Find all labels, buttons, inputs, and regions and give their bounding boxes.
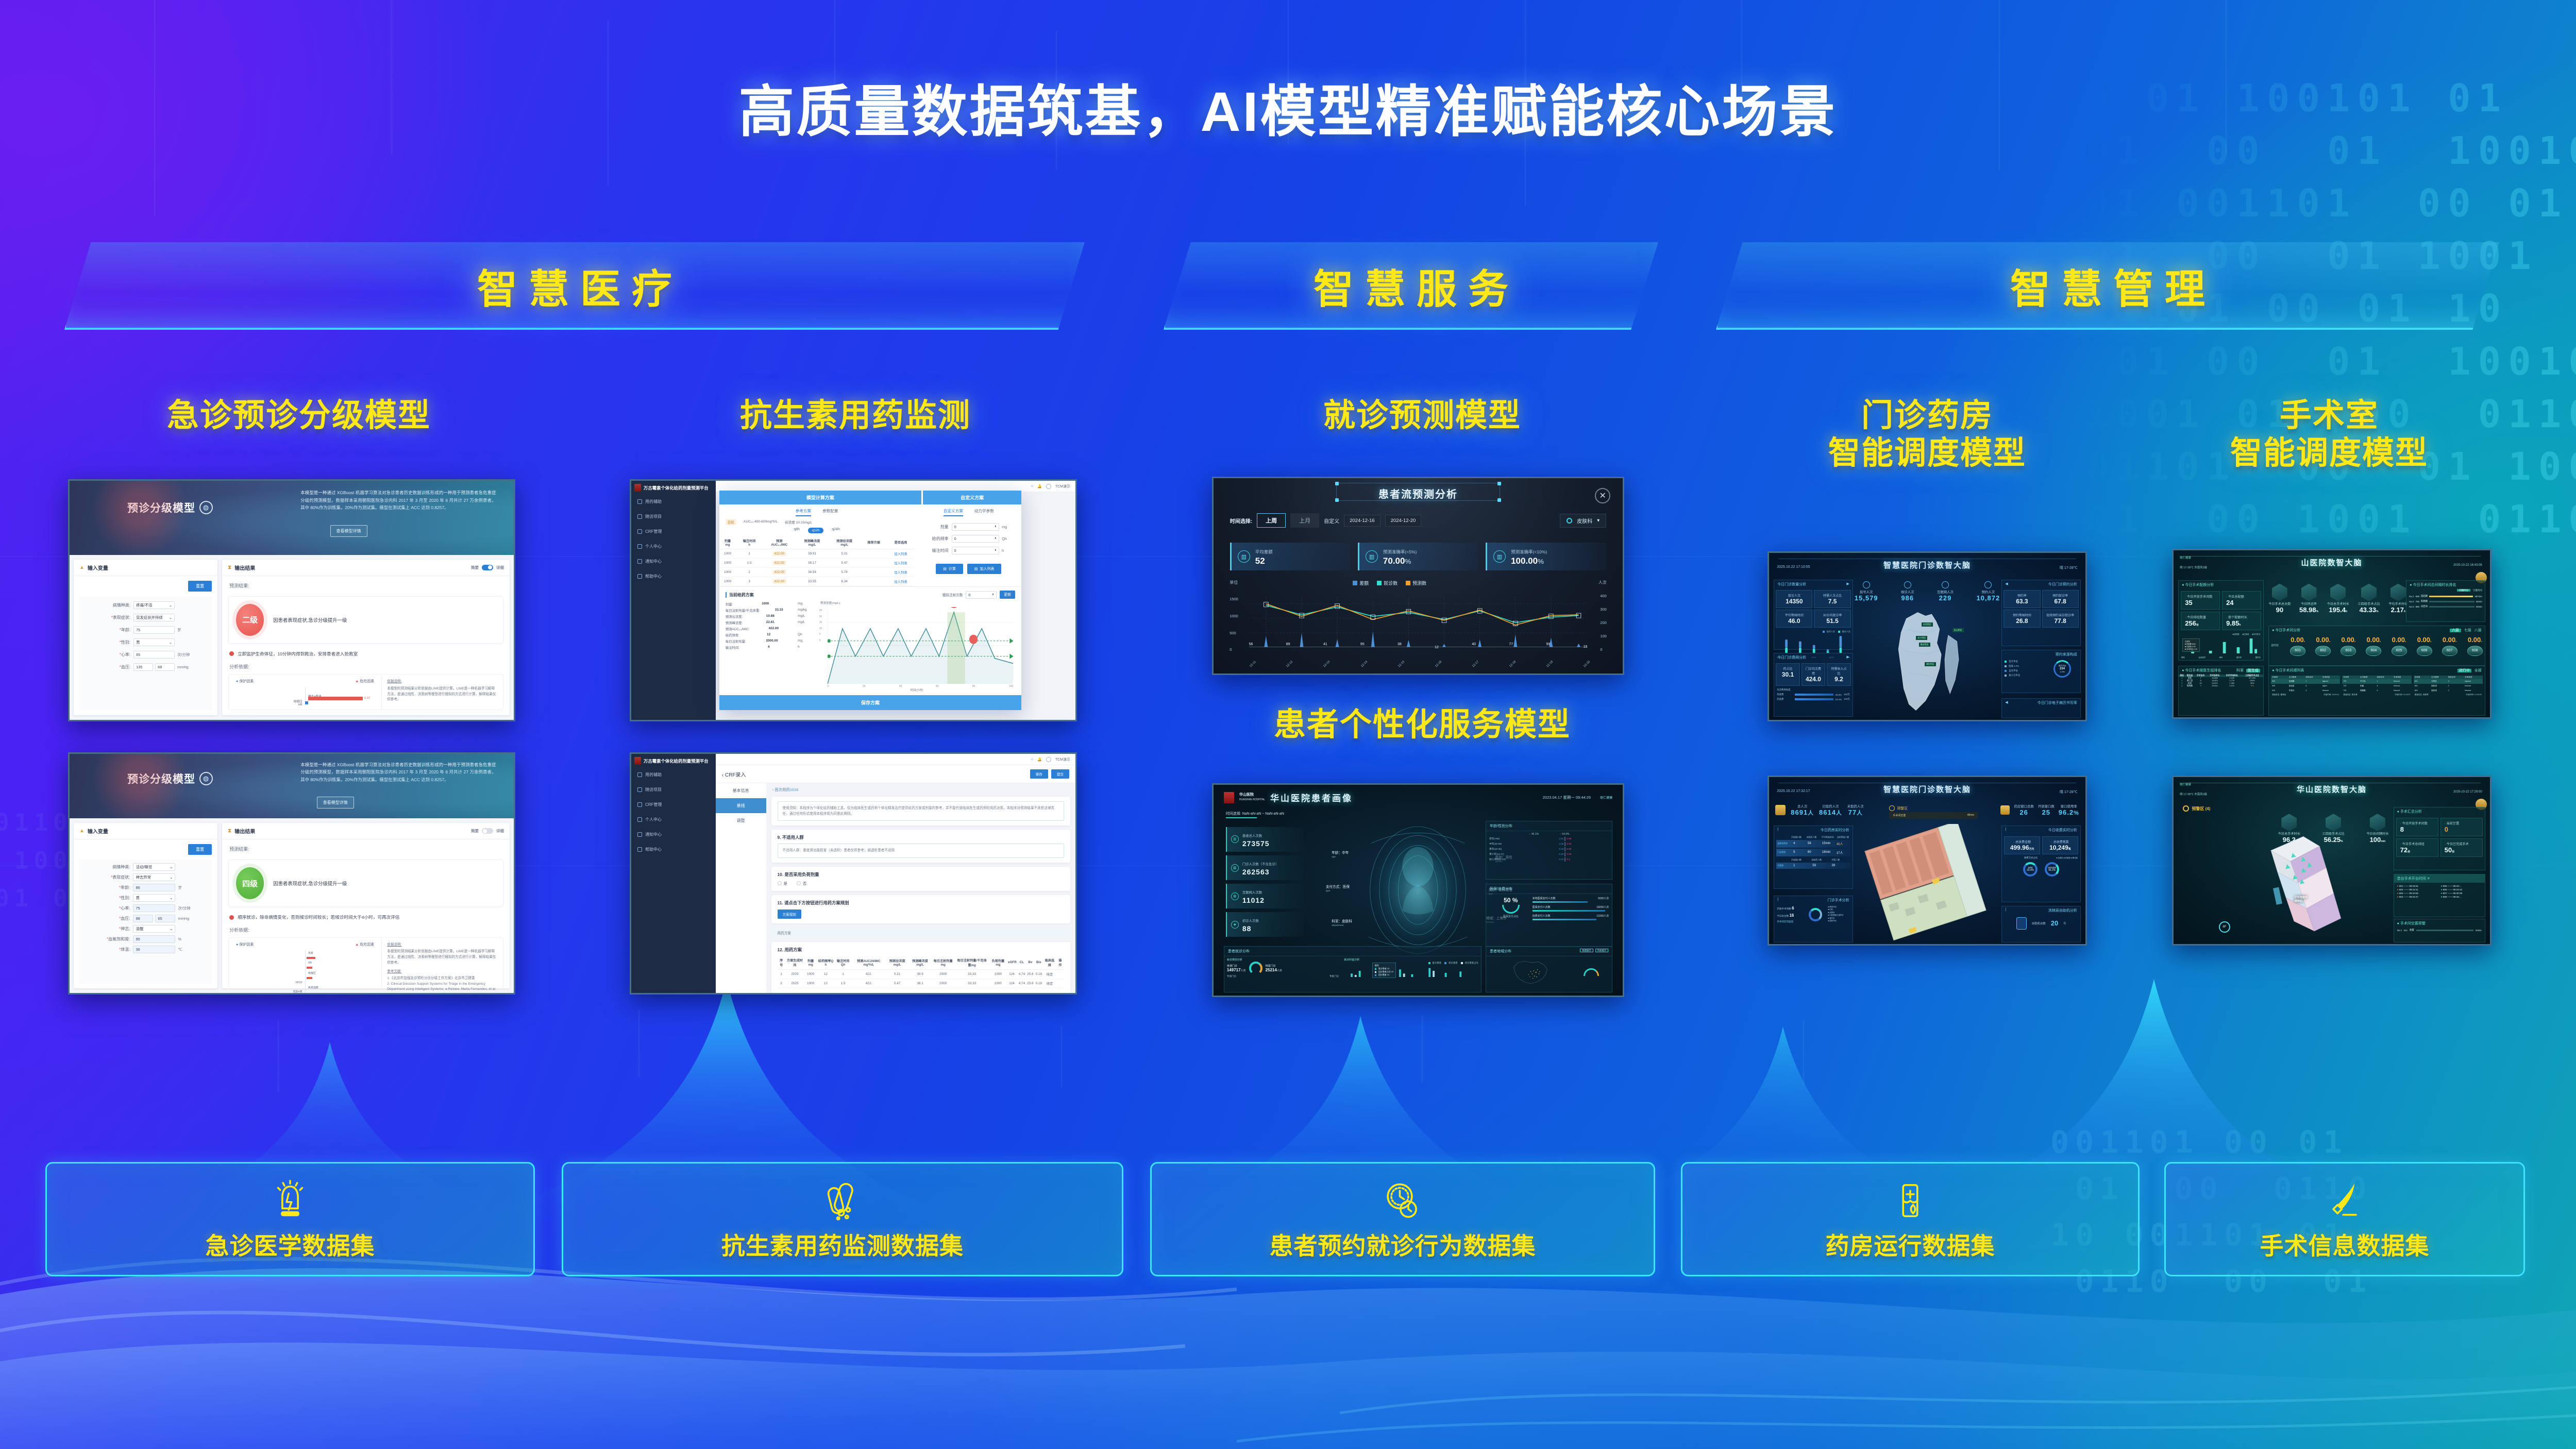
- first-row: ● 808 —— 08:45:...: [2441, 896, 2482, 898]
- form-row: 病情种类:活动/睡觉⌄: [83, 863, 208, 871]
- tab-custom-plan[interactable]: 自定义方案: [923, 491, 1021, 504]
- crf-notice-card: 使用须知：本程序为个体化给药辅助工具，仅为临床医生或药师个体化精准治疗提供给药方…: [771, 797, 1070, 825]
- section-label: ▫ 首次用药1016: [766, 783, 1075, 793]
- lime-chart: ● 保护因素 ▲ 危险因素 神志=昏迷 0.37 收缩压 HR: [229, 675, 381, 710]
- panel-header: ⧗ 输出结果 简要 详细: [222, 560, 510, 576]
- custom-tabs: 自定义方案 动力学参数: [921, 504, 1016, 519]
- radio-yes[interactable]: 是: [778, 881, 787, 886]
- dashboard-title: 智慧医院门诊数智大脑: [1769, 784, 2085, 795]
- chevron-left-icon[interactable]: ◀: [2005, 582, 2008, 587]
- china-map: [1487, 957, 1571, 987]
- add-to-list-button[interactable]: ▤加入列表: [967, 564, 1002, 574]
- pharmacy-floor-map: [1858, 824, 1991, 941]
- section-label-medical: 智慧医疗: [466, 257, 683, 315]
- dashboard-title: 华山医院数智大脑: [2174, 784, 2490, 795]
- y-axis-left: 1500 1000 500 0: [1230, 597, 1238, 652]
- hospital-logo-icon: [634, 484, 641, 492]
- weather: 晴 17-28℃ 东南风3级: [2180, 792, 2207, 796]
- output-icon: ⧗: [228, 828, 231, 834]
- interval-row: No.2705陈鹏鹏36min: [2409, 600, 2482, 603]
- weather: 晴 17-28℃: [2060, 565, 2078, 570]
- tab-all[interactable]: 全部: [2474, 669, 2482, 672]
- calc-icon: ▤: [943, 567, 947, 571]
- form-row: 病情种类:疼痛/不适⌄: [85, 601, 206, 609]
- sidebar-item-5[interactable]: 帮助中心: [631, 569, 716, 584]
- section-label-service: 智慧服务: [1302, 257, 1520, 315]
- patient-flow-chart: 单位 人次 差额 就诊数 预测数: [1226, 580, 1610, 666]
- time-filter[interactable]: 时间选择: NaN-aN-aN ~ NaN-aN-aN: [1226, 811, 1284, 818]
- range-last-month[interactable]: 上月: [1290, 513, 1319, 528]
- sidebar-item-1[interactable]: 随访项目: [631, 509, 716, 524]
- surgery-group-0: 手术间主刀医师实际台次手术状态 609田超鹏1signout 609吴佳胜8si…: [2271, 676, 2340, 697]
- stat-internet: 互联网人次 229: [1937, 581, 1954, 602]
- kpi-accuracy-10: ▥ 预测准确率(<10%) 100.00%: [1486, 543, 1606, 570]
- freq-q12h[interactable]: q12h: [808, 528, 823, 533]
- home-icon[interactable]: ⌂: [1031, 484, 1033, 488]
- heart-icon: [2330, 584, 2346, 601]
- kpi-first-visits: ◈ 初诊人次数88: [1226, 912, 1304, 937]
- first-row: ● 807 —— 08:30:39: [2441, 892, 2482, 895]
- tile-current-idle: · 当前空置0: [2440, 818, 2483, 836]
- view-model-detail-button[interactable]: 查看模型详情: [317, 797, 354, 808]
- pill-icon: [637, 499, 642, 504]
- panel-appointment-source: · 预约来源构成 官方平台 医联 2.2% 自有平台 第三方平台 官方平台 23…: [2001, 650, 2081, 693]
- heart-rate-input[interactable]: 65: [133, 651, 175, 659]
- plan-button[interactable]: 方案规划: [778, 909, 801, 919]
- screenshot-patient-flow[interactable]: 患者流预测分析 ✕ 时间选择: 上周 上月 自定义 2024-12-16 202…: [1212, 477, 1624, 675]
- first-row: ● 803 —— 09:10:52: [2397, 892, 2438, 895]
- tile-appt-visit-rate: 预约就诊率67.8: [2042, 590, 2079, 608]
- people-icon: ☰: [1231, 835, 1239, 843]
- model-title-visit: 就诊预测模型: [1201, 397, 1644, 434]
- section-banner-management: 智慧管理: [1716, 242, 2499, 330]
- save-button[interactable]: 保存: [1030, 769, 1048, 779]
- panel-quota: ● 今日手术配额分析 · 今日开放手术间数35 · 今日总配额24 · 今日排班…: [2178, 580, 2264, 661]
- dataset-label: 急诊医学数据集: [206, 1227, 375, 1261]
- alert-icon: [229, 915, 234, 920]
- gender-select[interactable]: 男⌄: [133, 894, 175, 902]
- surgery-group-2: 手术间主刀医师实际台次手术状态 801马明生2signout 802夏新堂2ti…: [2414, 676, 2483, 697]
- triage-grade-badge: 二级: [236, 604, 264, 636]
- triage-form: 病情种类:疼痛/不适⌄ *表现症状:突发症状并持续⌄ *年龄:75岁 *性别:男…: [79, 596, 212, 711]
- lime-chart: ● 保护因素 ▲ 危险因素 年龄 HR 收缩压 SPO2 性: [229, 938, 381, 995]
- tab-ongoing[interactable]: 进行中: [2457, 669, 2471, 672]
- input-variables-panel: ▲ 输入变量 重置 病情种类:活动/睡觉⌄ *表现症状:神志异常⌄ *年龄:86…: [74, 823, 217, 988]
- map-label-baoshan: 宝山院区: [1952, 628, 1964, 632]
- prediction-result-label: 预测结果:: [229, 846, 502, 852]
- hospital-logo-icon: [1224, 792, 1234, 803]
- kiosk-icon: [2016, 917, 2027, 930]
- tab-basic-info[interactable]: 基本信息: [716, 783, 766, 798]
- vendor-logo: 联仁健康: [1600, 795, 1612, 800]
- map-label-hongqiao: 虹桥院区: [1922, 622, 1933, 627]
- sidebar-item-3[interactable]: 个人中心: [631, 539, 716, 554]
- form-row: *年龄:86岁: [83, 884, 208, 891]
- tab-floor6[interactable]: 六层: [2450, 629, 2461, 632]
- window-stats: 药房窗口总数26 开放窗口数25 窗口使用率96.2%: [2000, 804, 2079, 816]
- chart-legend: 差额 就诊数 预测数: [1353, 580, 1426, 586]
- tile-avg-wait: 平均等候时间46.0: [1776, 610, 1812, 628]
- warning-icon: [1889, 805, 1895, 811]
- datetime: 2025.10.22 17:10:55: [1777, 565, 1810, 569]
- triage-app-title: 预诊分级模型 ◍: [127, 771, 213, 786]
- room-607: 0.00h607: [2442, 635, 2457, 656]
- panel-appointment: ◀今日门诊预约分析 预约率63.3 预约就诊率67.8 预约等候时间26.8 现…: [2001, 580, 2081, 647]
- temperature-input[interactable]: 36: [133, 946, 175, 953]
- form-row: *神志:清醒⌄: [83, 925, 208, 933]
- tile-completed: · 今日已完成手术50台: [2440, 838, 2483, 857]
- sidebar-item-5[interactable]: 帮助中心: [631, 842, 716, 857]
- sidebar-item-0[interactable]: 用药辅助: [631, 494, 716, 509]
- dataset-label: 抗生素用药监测数据集: [721, 1227, 964, 1261]
- analysis-basis-label: 分析依据:: [229, 926, 502, 933]
- chevron-down-icon: ⌄: [170, 865, 173, 869]
- tab-interval[interactable]: 间隔时长: [2457, 589, 2470, 592]
- model-title-pharmacy: 门诊药房 智能调度模型: [1747, 397, 2108, 472]
- sidebar-item-1[interactable]: 随访项目: [631, 782, 716, 797]
- bp-diastolic-input[interactable]: 65: [155, 915, 175, 922]
- globe-icon: ◍: [199, 772, 213, 785]
- weather: 晴 17-28℃ 东南风3级: [2180, 565, 2207, 569]
- tile-received: 接诊人次14350: [1776, 590, 1812, 608]
- chevron-down-icon: ⌄: [170, 875, 173, 880]
- detail-toggle[interactable]: [482, 565, 493, 570]
- freq-q8h[interactable]: q8h: [794, 528, 800, 533]
- idle-row: No.1811 收置 20min: [2394, 928, 2485, 933]
- dashboard-title: 智慧医院门诊数智大脑: [1769, 560, 2085, 570]
- kpi-internet-visits: ◍ 互联网人次数11012: [1226, 884, 1304, 908]
- tab-idle[interactable]: 空置时间: [2473, 589, 2482, 592]
- table-header-row: 剂量mg输注时间h 预测AUC₂₄/MIC预测峰浓度mg/L 预测谷浓度mg/L…: [719, 536, 915, 549]
- floor-badge[interactable]: 8F: [2219, 921, 2230, 933]
- box-icon: [2390, 584, 2406, 601]
- symptom-select[interactable]: 突发症状并持续⌄: [133, 614, 175, 621]
- dashboard-title: 山医院数智大脑: [2174, 557, 2490, 568]
- output-icon: ⧗: [228, 565, 231, 570]
- lime-explanation-box: ● 保护因素 ▲ 危险因素 年龄 HR 收缩压 SPO2 性: [228, 937, 503, 995]
- plan-table: 序号方案生成时间剂量mg给药频率Q h输注时间Qh预测AUC24/MIC mg*…: [778, 956, 1064, 988]
- siren-icon: [266, 1177, 314, 1224]
- heart-rate-input[interactable]: 75: [133, 904, 175, 912]
- triage-grade-badge: 四级: [236, 867, 264, 899]
- analysis-basis-label: 分析依据:: [229, 663, 502, 670]
- section-banner-medical: 智慧医疗: [64, 242, 1085, 330]
- tile-appt-rate: 预约率63.3: [2003, 590, 2040, 608]
- datetime: 2025-10-22 17:29:00: [2453, 790, 2482, 794]
- chevron-right-icon[interactable]: ▶: [1846, 655, 1849, 660]
- bell-icon[interactable]: 🔔: [1037, 484, 1042, 488]
- surgery-donut: [1809, 908, 1822, 921]
- tab-reference-plan[interactable]: 参考方案: [796, 508, 811, 516]
- freq-q24h[interactable]: q24h: [832, 528, 840, 533]
- screenshot-huashan-portrait[interactable]: 华山医院HUASHAN HOSPITAL 华山医院患者画像 2023.04.17…: [1212, 783, 1624, 997]
- map-label-jingan: 静安院区: [1919, 643, 1930, 647]
- globe-icon: ◍: [1231, 892, 1239, 900]
- bar-chart-icon: ▥: [1493, 550, 1506, 563]
- chevron-down-icon: ⌄: [169, 615, 172, 620]
- screenshot-crf[interactable]: 万古霉素个体化给药剂量预测平台 用药辅助 随访项目 CRF管理 个人中心 通知中…: [630, 752, 1077, 995]
- model-title-patient: 患者个性化服务模型: [1185, 706, 1659, 744]
- panel-kiosk: | 洗晾层自助机分析 自助机台数 20 台: [2001, 906, 2081, 942]
- list-icon: [637, 514, 642, 519]
- reset-button[interactable]: 重置: [188, 844, 212, 855]
- sidebar-item-2[interactable]: CRF管理: [631, 797, 716, 812]
- screenshot-vancomycin[interactable]: 万古霉素个体化给药剂量预测平台 用药辅助 随访项目 CRF管理 个人中心 通知中…: [630, 479, 1077, 721]
- triage-app-title: 预诊分级模型 ◍: [127, 500, 213, 515]
- chevron-right-icon[interactable]: ▶: [1846, 582, 1849, 587]
- lime-bar: [308, 697, 363, 700]
- bp-systolic-input[interactable]: 98: [133, 915, 153, 922]
- datetime: 2025-10-22 16:43:06: [2453, 564, 2482, 567]
- dashboard-title: 华山医院患者画像: [1270, 791, 1353, 804]
- tab-baseline[interactable]: 基线: [716, 798, 766, 813]
- save-plan-button[interactable]: 保存方案: [719, 695, 1022, 710]
- submit-button[interactable]: 提交: [1051, 769, 1069, 779]
- map-view-button[interactable]: 地图展示: [1580, 949, 1593, 952]
- freq-input[interactable]: 0⬍: [952, 535, 999, 543]
- stepper-icon[interactable]: ⬍: [995, 549, 997, 552]
- panel-visit-distribution: 患者就诊分布 就诊类别分析 普通门诊149717人次 特需门诊25214人次 专…: [1224, 946, 1481, 992]
- kpi-accuracy-5: ▥ 预测准确率(<5%) 70.00%: [1358, 543, 1478, 570]
- panel-age-gender: 年龄/性别分布 ♂ 45.1% ♀ 54.9% 老年(>65)2.012.05 …: [1486, 821, 1612, 880]
- gender-select[interactable]: 男⌄: [133, 638, 175, 646]
- dosing-modal: 模型计算方案 自定义方案 参考方案 参数配置 目标 AUC₂₄ 400-600m…: [719, 491, 1022, 711]
- update-button[interactable]: 更新: [1000, 591, 1015, 599]
- dosing-table: 剂量mg输注时间h 预测AUC₂₄/MIC预测峰浓度mg/L 预测谷浓度mg/L…: [719, 536, 915, 586]
- panel-header: ▲ 输入变量: [74, 823, 217, 839]
- form-row: *性别:男⌄: [83, 894, 208, 902]
- screenshot-triage-b[interactable]: 预诊分级模型 ◍ 本模型是一种通过 XGBoost 机器学习算法对急诊患者历史数…: [68, 752, 515, 995]
- stat-total-duration: 今日总手术时长 195.4h: [2327, 584, 2349, 614]
- form-row: *血压:13568mmHg: [85, 663, 206, 671]
- tile-special-ratio: 特需人次占比7.5: [1814, 590, 1850, 608]
- help-icon: [637, 574, 642, 579]
- calculate-button[interactable]: ▤计算: [936, 564, 963, 574]
- bp-systolic-input[interactable]: 135: [133, 663, 153, 671]
- tile-total-quota: · 今日总配额24: [2222, 591, 2261, 610]
- first-row: ● 804 —— 09:24:27: [2397, 896, 2438, 898]
- screenshot-pharmacy-brain[interactable]: 智慧医院门诊数智大脑 2025.10.22 17:32:17 晴 17-28℃ …: [1767, 776, 2087, 946]
- dataset-card-emergency[interactable]: 急诊医学数据集: [45, 1162, 535, 1276]
- stepper-icon[interactable]: ⬍: [995, 537, 997, 540]
- crf-q12-card: 12. 用药方案 序号方案生成时间剂量mg给药频率Q h输注时间Qh预测AUC2…: [771, 942, 1070, 993]
- shanghai-map: 虹桥院区 宝山院区 长宁院区 静安院区 浦东院区: [1858, 603, 1997, 716]
- panel-rooms: ● 今日手术间分析 六层 七层 八层 总时长 0.00h601 0.00h602…: [2268, 626, 2485, 666]
- interval-row: No.1609田超鹏487min: [2409, 595, 2482, 598]
- age-input[interactable]: 86: [133, 884, 175, 891]
- tile-open-rooms: · 今日开放手术间数35: [2181, 591, 2220, 610]
- stepper-icon[interactable]: ⬍: [995, 525, 997, 528]
- screenshot-or-floor[interactable]: 华山医院数智大脑 联仁健康 晴 17-28℃ 东南风3级 2025-10-22 …: [2172, 776, 2491, 946]
- tile-open-rooms: · 今日开放手术间数8: [2396, 818, 2438, 836]
- reset-button[interactable]: 重置: [188, 581, 212, 592]
- panel-surgery-list: ● 今日手术间顺列表 进行中 全部 手术间主刀医师实际台次手术状态 609田超鹏…: [2268, 666, 2485, 716]
- disease-type-select[interactable]: 活动/睡觉⌄: [133, 863, 175, 871]
- detail-toggle[interactable]: [482, 828, 493, 834]
- lime-note: 依据说明: 本模型的预测结果分析依据由LIME提供计算。LIME是一种机器学习解…: [381, 938, 503, 995]
- tab-floor8[interactable]: 八层: [2474, 629, 2482, 632]
- vendor-logo: 联仁健康: [2180, 782, 2191, 786]
- form-row: *表现症状:神志异常⌄: [83, 873, 208, 881]
- screenshot-or-brain[interactable]: 山医院数智大脑 联仁健康 晴 17-28℃ 东南风3级 2025-10-22 1…: [2172, 549, 2491, 719]
- loading-note: 正在连接中 请稍后...: [2295, 896, 2308, 903]
- infusion-input[interactable]: 0⬍: [952, 547, 999, 554]
- globe-icon: ◍: [199, 501, 213, 514]
- dataset-card-surgery[interactable]: 手术信息数据集: [2164, 1162, 2525, 1276]
- pharmacy-icon: [1887, 1177, 1934, 1224]
- stat-total-surgeries: 今日手术总台数 90: [2268, 584, 2291, 614]
- dept-icon: [1567, 518, 1572, 524]
- bell-icon[interactable]: 🔔: [1037, 757, 1042, 762]
- department-select[interactable]: 皮肤科 ▾: [1560, 514, 1606, 528]
- age-input[interactable]: 75: [133, 626, 175, 634]
- radio-no[interactable]: 否: [797, 881, 806, 886]
- sidebar-item-3[interactable]: 个人中心: [631, 812, 716, 827]
- plan-tabs: 参考方案 参数配置: [719, 504, 915, 519]
- prediction-result-card: 二级 因患者表现症状,急诊分级提升一级: [228, 596, 503, 644]
- stat-waiting: 候诊人次 986: [1901, 581, 1914, 602]
- user-icon: [637, 817, 642, 822]
- table-header-row: 序号方案生成时间剂量mg给药频率Q h输注时间Qh预测AUC24/MIC mg*…: [778, 956, 1064, 970]
- chevron-left-icon[interactable]: ◀: [2005, 700, 2008, 705]
- tab-floor7[interactable]: 七层: [2464, 629, 2471, 632]
- list-icon: [637, 787, 642, 792]
- region-gauge: [1571, 957, 1611, 987]
- dose-input[interactable]: 0⬍: [952, 523, 999, 531]
- bar-chart-icon: ▥: [1366, 550, 1378, 563]
- file-icon: [637, 802, 642, 807]
- table-row: 10003422.0033.556.34加入列表: [719, 577, 915, 586]
- lime-bar: [307, 967, 312, 969]
- concentration-chart: 预测浓度(mg/L): [818, 602, 1016, 692]
- avatar: [1046, 757, 1051, 762]
- tab-dept[interactable]: 科室: [2236, 669, 2244, 672]
- view-model-detail-button[interactable]: 查看模型详情: [330, 525, 367, 537]
- sidebar-item-4[interactable]: 通知中心: [631, 554, 716, 569]
- date-to[interactable]: 2024-12-20: [1385, 515, 1422, 527]
- close-icon[interactable]: ✕: [2427, 877, 2430, 881]
- home-icon[interactable]: ⌂: [1031, 757, 1033, 761]
- sidebar-item-2[interactable]: CRF管理: [631, 524, 716, 539]
- dataset-label: 药房运行数据集: [1826, 1227, 1995, 1261]
- tab-doctor-group[interactable]: 医生组: [2246, 669, 2260, 672]
- range-last-week[interactable]: 上周: [1257, 513, 1286, 528]
- bell-icon: [637, 559, 642, 564]
- kpi-outpatient-visits: ▥ 门诊人次数（不含急诊）262563: [1226, 855, 1304, 880]
- custom-field-dose: 剂量0⬍mg: [921, 523, 1016, 531]
- brain-tag-department: 科室：皮肤科department: [1332, 918, 1352, 927]
- chevron-down-icon: ⌄: [169, 640, 172, 645]
- triage-hero-description: 本模型是一种通过 XGBoost 机器学习算法对急诊患者历史数据训练形成的一种用…: [300, 489, 496, 512]
- stat-avg-duration: 平均手术时长 2.17h: [2388, 584, 2407, 614]
- sidebar-item-4[interactable]: 通知中心: [631, 827, 716, 842]
- heart-icon: [2281, 814, 2297, 831]
- range-custom[interactable]: 自定义: [1324, 517, 1339, 525]
- chevron-down-icon: ⌄: [169, 603, 172, 608]
- spo2-input[interactable]: 90: [133, 935, 175, 943]
- panel-first-surgery: 首台手术开台时间 ✕ ● 801 —— 09:15:51 ● 805 —— 08…: [2394, 874, 2485, 917]
- screenshot-outpatient-brain[interactable]: 智慧医院门诊数智大脑 2025.10.22 17:10:55 晴 17-28℃ …: [1767, 551, 2087, 721]
- or-floor-3d-map: 正在连接中 请稍后... 8F: [2231, 831, 2376, 939]
- section-label-management: 智慧管理: [1999, 257, 2216, 315]
- first-row: ● 802 —— 09:13:11: [2397, 888, 2438, 891]
- result-text: 因患者表现症状,急诊分级提升一级: [273, 616, 347, 624]
- close-icon[interactable]: ✕: [1595, 488, 1610, 503]
- disease-type-select[interactable]: 疼痛/不适⌄: [133, 601, 175, 609]
- pill-icon: [637, 772, 642, 777]
- lime-bar: [307, 957, 315, 959]
- stat-appointment: 预约人次 10,872: [1976, 581, 2000, 602]
- screenshot-triage-a[interactable]: 预诊分级模型 ◍ 本模型是一种通过 XGBoost 机器学习算法对急诊患者历史数…: [68, 479, 515, 721]
- tab-kinetics[interactable]: 动力学参数: [974, 508, 994, 516]
- bone-icon: [2326, 814, 2341, 831]
- dataset-card-pharmacy[interactable]: 药房运行数据集: [1681, 1162, 2140, 1276]
- sidebar-item-0[interactable]: 用药辅助: [631, 767, 716, 782]
- scalpel-icon: [2321, 1177, 2368, 1224]
- pharmacy-row: 中药房 1 59 39: [1776, 863, 1850, 869]
- room-606: 0.00h606: [2417, 635, 2432, 656]
- triage-hero-description: 本模型是一种通过 XGBoost 机器学习算法对急诊患者历史数据训练形成的一种用…: [300, 761, 496, 784]
- tab-adjust[interactable]: 调整: [716, 813, 766, 828]
- doctor-table: 排名医生组 手术台次手术总时长 手术平均时长三四级手术占比 1张毅714.85h…: [2179, 675, 2263, 687]
- capsule-icon: [819, 1177, 866, 1224]
- diff-value-labels: 56 89 41 95 38 12 40 77 59 15: [1249, 643, 1588, 652]
- symptom-select[interactable]: 神志异常⌄: [133, 873, 175, 881]
- consciousness-select[interactable]: 清醒⌄: [133, 925, 175, 933]
- bp-diastolic-input[interactable]: 68: [155, 663, 175, 671]
- tile-drug-ratio: 药占比30.1: [1776, 663, 1800, 686]
- warning-zone: 预警区 手术间空置48min: [1889, 805, 1978, 819]
- room-605: 0.00h605: [2392, 635, 2407, 656]
- bar-chart-icon: ▥: [1238, 550, 1250, 563]
- fee-donut-1: 自助机退费 46.2%: [2045, 862, 2059, 877]
- sim-count-input[interactable]: 0⬍: [966, 591, 997, 599]
- dataset-card-appointment[interactable]: 患者预约就诊行为数据集: [1150, 1162, 1655, 1276]
- list-view-button[interactable]: 列表展示: [1595, 949, 1609, 952]
- panel-header: ⧗ 输出结果 简要 详细: [222, 823, 510, 839]
- y-axis-right: 400 300 200 100 0: [1600, 594, 1606, 652]
- model-title-pharmacy-line1: 门诊药房: [1747, 397, 2108, 434]
- filter-bar: 时间选择: 上周 上月 自定义 2024-12-16 2024-12-20 皮肤…: [1230, 513, 1607, 528]
- modal-header: 模型计算方案 自定义方案: [719, 491, 1022, 504]
- dashboard-header: 华山医院HUASHAN HOSPITAL 华山医院患者画像 2023.04.17…: [1224, 791, 1612, 804]
- form-row: *年龄:75岁: [85, 626, 206, 634]
- tile-total-scheduled: · 今日手术总排班72台: [2396, 838, 2438, 857]
- tile-avg-fee: 门诊均次费用424.0: [1801, 663, 1826, 686]
- panel-doctor-rank: ● 今日手术按医生组排名 科室 医生组 排名医生组 手术台次手术总时长 手术平均…: [2178, 666, 2264, 716]
- tab-custom[interactable]: 自定义方案: [944, 508, 963, 516]
- app-brand: 万古霉素个体化给药剂量预测平台: [634, 484, 709, 492]
- panel-outpatient-surgery: | 门诊手术分析 开放手术间数 6 今日总台数 16 手术间实时监控 ■ 神经外…: [1774, 896, 1853, 942]
- tile-30min-rate: 30分内就诊率51.5: [1814, 610, 1850, 628]
- pharmacy-row: 门诊药房 560 18min17人: [1776, 849, 1850, 856]
- vendor-logo: 联仁健康: [2180, 555, 2191, 560]
- table-row: 220251000121.5422.5.4738.1200033.3310001…: [778, 979, 1064, 988]
- tab-model-plan[interactable]: 模型计算方案: [719, 491, 921, 504]
- help-icon: [637, 847, 642, 852]
- date-from[interactable]: 2024-12-16: [1344, 515, 1380, 527]
- bone-icon: [2361, 584, 2377, 601]
- dataset-card-antibiotic[interactable]: 抗生素用药监测数据集: [562, 1162, 1123, 1276]
- warning-zone: 预警区 (4): [2183, 805, 2210, 812]
- alert-message: 顺序就诊，除非病情变化，否则候诊时间较长；若候诊时间大于4小时，可再次评估: [229, 914, 502, 920]
- top-stats: 挂号人次 15,579 候诊人次 986 互联网人次 229 预约人次 10,8…: [1855, 581, 2000, 602]
- file-icon: [637, 529, 642, 534]
- breadcrumb[interactable]: ‹ CRF录入: [722, 770, 746, 778]
- tab-param-config[interactable]: 参数配置: [822, 508, 838, 516]
- alert-icon: [229, 651, 234, 656]
- panel-pharmacy-realtime: | 今日药房实时分析 开放窗口数未取药人数 平均等候时间当前等候人数 皮肤科药房…: [1774, 825, 1853, 889]
